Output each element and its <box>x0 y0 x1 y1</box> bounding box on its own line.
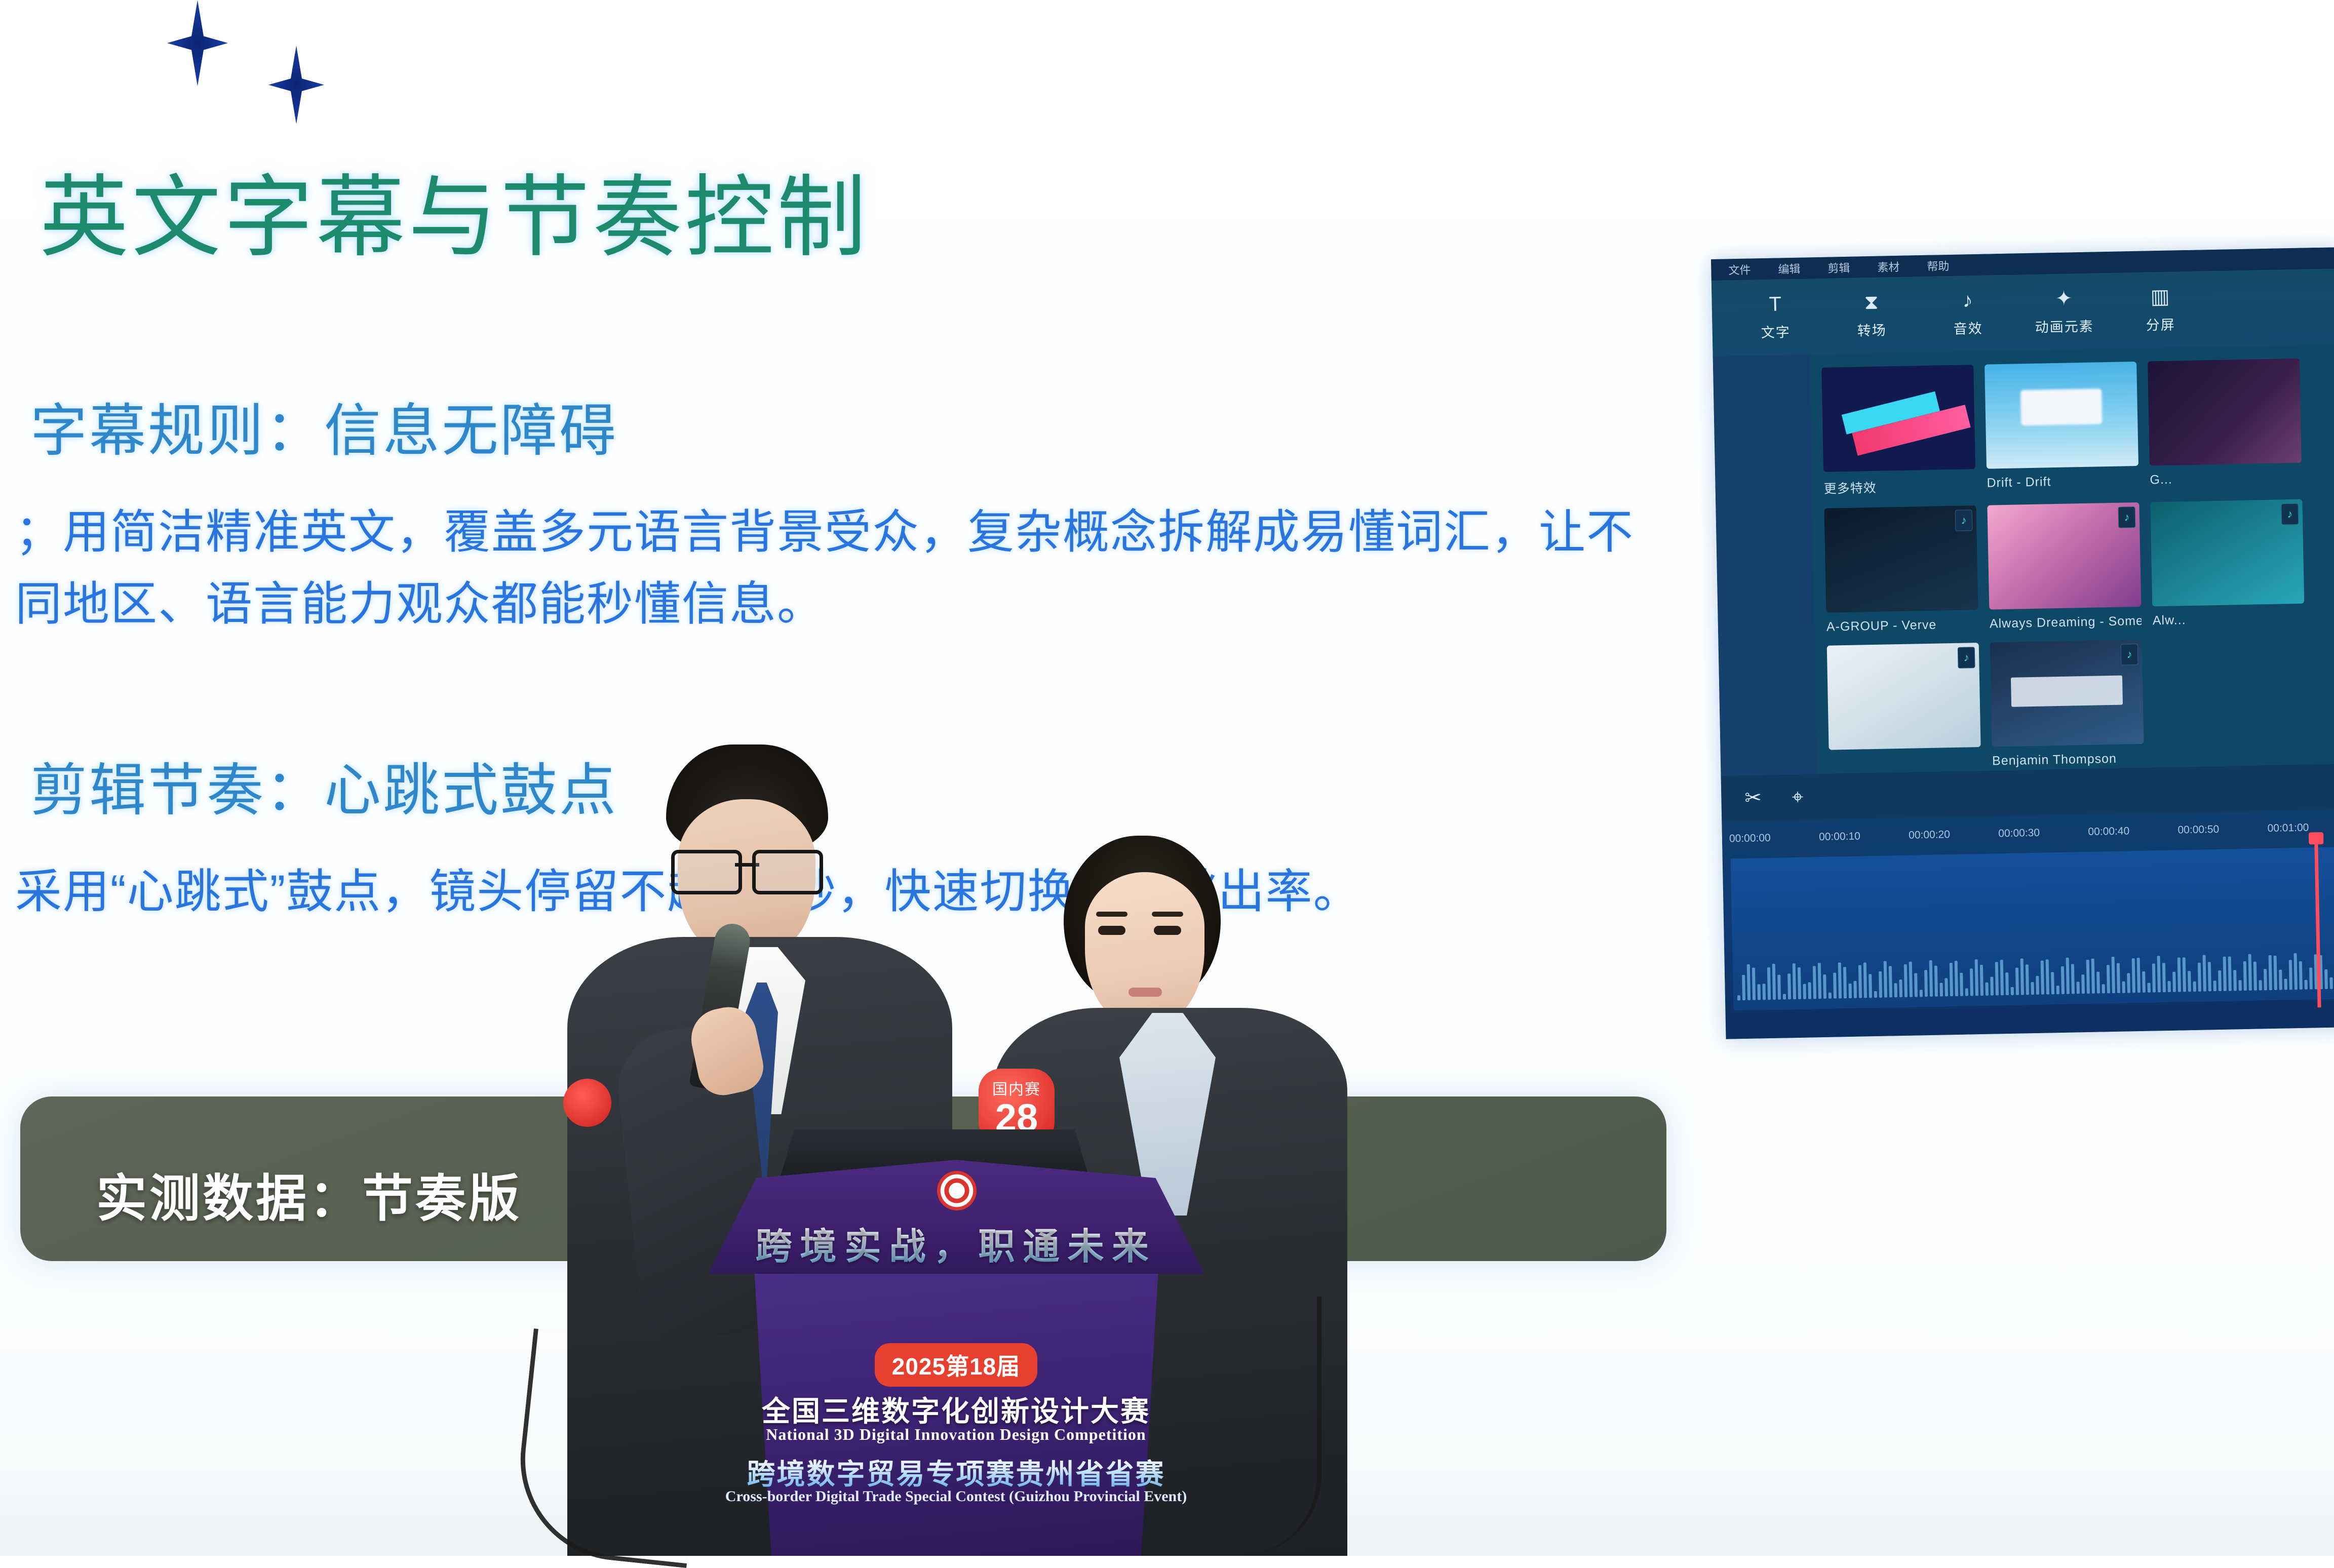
podium-edition-label: 2025第18届 <box>875 1343 1038 1387</box>
waveform-bar <box>1747 964 1750 1000</box>
waveform-bar <box>2269 955 2272 990</box>
podium-title-en: National 3D Digital Innovation Design Co… <box>686 1425 1226 1444</box>
waveform-bar <box>1798 967 1801 999</box>
waveform-bar <box>2000 960 2004 995</box>
waveform-bar <box>1904 964 1908 997</box>
waveform-bar <box>2218 970 2222 991</box>
waveform-bar <box>1838 962 1842 999</box>
waveform-bar <box>1777 975 1781 1000</box>
waveform-bar <box>2071 964 2075 994</box>
eyebrow <box>1152 912 1183 917</box>
waveform-bar <box>1899 979 1902 997</box>
timecode-label: 00:00:00 <box>1722 831 1812 845</box>
waveform-bar <box>1914 973 1918 997</box>
timecode-label: 00:00:40 <box>2081 825 2171 838</box>
page-title: 英文字幕与节奏控制 <box>40 171 869 265</box>
menu-item-media[interactable]: 素材 <box>1877 258 1900 275</box>
callout-text: 实测数据：节奏版 <box>96 1157 522 1231</box>
waveform-bar <box>1995 962 1999 995</box>
waveform-bar <box>2020 959 2024 995</box>
podium-edition-pill: 2025第18届 <box>686 1343 1226 1387</box>
editor-asset-grid: 更多特效 Drift - Drift G... ♪ A-GROUP - Verv… <box>1809 344 2334 774</box>
waveform-bar <box>2253 962 2257 991</box>
waveform-bar <box>2102 984 2105 993</box>
asset-label: Always Dreaming - Some <box>1990 614 2142 632</box>
waveform-bar <box>1884 961 1887 998</box>
tab-sound[interactable]: ♪ 音效 <box>1919 289 2016 338</box>
menu-item-file[interactable]: 文件 <box>1728 261 1751 278</box>
asset-label: G... <box>2150 470 2302 488</box>
waveform-bar <box>1934 965 1938 996</box>
waveform-bar <box>2193 982 2196 992</box>
sparkle-icon <box>167 0 228 86</box>
waveform-bar <box>2259 981 2262 991</box>
asset-card[interactable]: ♪ Always Dreaming - Some <box>1987 502 2142 632</box>
glasses-icon <box>671 850 823 887</box>
music-badge-icon: ♪ <box>2281 503 2299 525</box>
waveform-bar <box>2183 957 2186 992</box>
waveform-bar <box>2127 973 2130 993</box>
waveform-bar <box>2188 971 2191 992</box>
waveform-bar <box>2177 957 2181 992</box>
waveform-bar <box>1772 964 1776 1000</box>
waveform-bar <box>2086 960 2090 994</box>
waveform-bar <box>1767 967 1771 1000</box>
tab-split-label: 分屏 <box>2146 313 2175 334</box>
editor-timeline[interactable]: 00:00:00 00:00:10 00:00:20 00:00:30 00:0… <box>1722 809 2334 1039</box>
waveform-bar <box>2309 968 2313 990</box>
waveform-bar <box>1980 965 1983 996</box>
text-icon: T <box>1769 294 1781 314</box>
menu-item-edit[interactable]: 编辑 <box>1778 260 1801 277</box>
music-badge-icon: ♪ <box>1955 509 1973 531</box>
asset-label: A-GROUP - Verve <box>1826 617 1979 635</box>
tab-text[interactable]: T 文字 <box>1727 293 1824 342</box>
waveform-bar <box>1909 961 1913 997</box>
waveform-bar <box>1920 990 1923 997</box>
asset-label: 更多特效 <box>1823 476 1976 497</box>
waveform-bar <box>1924 970 1928 997</box>
waveform-bar <box>2284 978 2287 990</box>
cut-icon[interactable]: ✂ <box>1744 786 1762 810</box>
waveform-bar <box>2096 971 2100 993</box>
music-badge-icon: ♪ <box>2118 506 2136 528</box>
asset-card[interactable]: Drift - Drift <box>1985 362 2139 494</box>
asset-label: Drift - Drift <box>1987 473 2139 491</box>
waveform-bar <box>1869 974 1872 998</box>
waveform-bar <box>1793 963 1796 999</box>
asset-thumbnail[interactable] <box>1985 362 2138 469</box>
asset-card[interactable]: ♪ A-GROUP - Verve <box>1824 505 1978 635</box>
asset-label: Benjamin Thompson <box>1992 751 2145 769</box>
lips <box>1129 988 1162 997</box>
asset-thumbnail[interactable]: ♪ <box>1824 505 1978 613</box>
waveform-bar <box>2233 970 2237 991</box>
waveform-bar <box>1986 983 1989 996</box>
waveform-bar <box>2132 959 2135 993</box>
waveform-bar <box>2223 956 2227 991</box>
waveform-bar <box>2239 980 2242 991</box>
waveform-bar <box>2142 971 2146 992</box>
waveform-bar <box>1858 965 1862 998</box>
waveform-bar <box>1813 966 1816 999</box>
section-body-subtitle-rules: ；用简洁精准英文，覆盖多元语言背景受众，复杂概念拆解成易懂词汇，让不同地区、语言… <box>15 496 1636 640</box>
podium-subtitle-en: Cross-border Digital Trade Special Conte… <box>686 1488 1226 1505</box>
timecode-label: 00:00:20 <box>1901 828 1992 842</box>
waveform-bar <box>2289 960 2292 990</box>
waveform-bar <box>1833 972 1837 999</box>
waveform-bar <box>2107 965 2110 993</box>
badge-label: 国内赛 <box>992 1077 1041 1099</box>
timecode-label: 00:00:50 <box>2170 822 2261 836</box>
waveform-bar <box>1960 973 1963 996</box>
asset-card[interactable]: ♪ Alw... <box>2150 499 2305 629</box>
waveform-bar <box>2305 980 2308 990</box>
waveform-bar <box>1843 967 1847 999</box>
tab-sound-label: 音效 <box>1953 317 1983 337</box>
asset-thumbnail[interactable]: ♪ <box>1987 502 2141 610</box>
waveform-bar <box>2005 972 2009 995</box>
asset-card[interactable]: 更多特效 <box>1821 365 1976 497</box>
waveform-bar <box>1787 974 1791 1000</box>
editor-tab-bar: T 文字 ⧗ 转场 ♪ 音效 ✦ 动画元素 ▥ 分屏 <box>1711 268 2334 357</box>
waveform-bar <box>2117 963 2120 993</box>
editor-category-sidebar[interactable] <box>1713 355 1817 775</box>
waveform-bar <box>2243 961 2247 991</box>
waveform-bar <box>1783 994 1786 999</box>
waveform-bar <box>2056 986 2059 994</box>
waveform-bar <box>2061 966 2065 994</box>
menu-item-clip[interactable]: 剪辑 <box>1827 259 1850 276</box>
waveform-bar <box>1944 978 1948 997</box>
eye <box>1154 926 1181 935</box>
waveform-bar <box>2172 971 2176 992</box>
split-icon: ▥ <box>2150 286 2170 307</box>
waveform-bar <box>2168 981 2171 992</box>
menu-item-help[interactable]: 帮助 <box>1927 257 1950 274</box>
waveform-bar <box>2077 982 2080 994</box>
waveform-bar <box>2162 963 2166 992</box>
waveform-bar <box>2148 983 2151 992</box>
waveform-bar <box>2112 957 2115 993</box>
waveform-bar <box>2157 956 2161 992</box>
waveform-bar <box>2213 981 2216 991</box>
waveform-bar <box>2041 961 2044 995</box>
split-icon[interactable]: ⌖ <box>1792 786 1804 808</box>
contestant-badge <box>563 1079 611 1127</box>
waveform-bar <box>1803 984 1807 999</box>
waveform-bar <box>2081 974 2085 994</box>
waveform-bar <box>1849 984 1852 998</box>
asset-card[interactable]: ♪ Benjamin Thompson <box>1990 640 2145 769</box>
timecode-label: 00:00:30 <box>1991 826 2081 840</box>
waveform-bar <box>2051 972 2054 994</box>
waveform-bar <box>1889 966 1892 998</box>
waveform-bar <box>1818 963 1821 999</box>
waveform-bar <box>2228 956 2232 991</box>
waveform-bar <box>2264 969 2267 990</box>
waveform-bar <box>1975 959 1978 996</box>
waveform-bar <box>2279 970 2282 990</box>
asset-label: Alw... <box>2153 611 2305 629</box>
waveform-bar <box>2248 954 2252 991</box>
podium: 跨境实战，职通未来 2025第18届 全国三维数字化创新设计大赛 Nationa… <box>686 1160 1226 1556</box>
asset-card[interactable]: ♪ <box>1827 643 1981 772</box>
waveform-bar <box>2046 959 2049 995</box>
waveform-bar <box>1940 983 1943 997</box>
waveform-bar <box>1863 962 1867 998</box>
waveform-bar <box>2208 962 2211 992</box>
waveform-bar <box>1970 969 1973 996</box>
tab-split-screen[interactable]: ▥ 分屏 <box>2112 286 2209 335</box>
asset-thumbnail[interactable] <box>2148 359 2302 466</box>
waveform-bar <box>1752 968 1756 1000</box>
waveform-bar <box>1829 993 1832 999</box>
waveform-bar <box>1879 971 1882 998</box>
waveform-bar <box>2294 953 2298 990</box>
waveform-bar <box>1853 981 1857 998</box>
sticker-icon: ✦ <box>2055 288 2072 309</box>
competition-emblem-icon <box>937 1171 977 1210</box>
waveform-bar <box>2203 955 2206 992</box>
asset-thumbnail[interactable]: ♪ <box>2150 499 2304 607</box>
timecode-label: 00:00:10 <box>1812 830 1902 843</box>
waveform-bar <box>2011 987 2014 995</box>
waveform-bar <box>1990 977 1994 996</box>
waveform-bar <box>1742 975 1745 1000</box>
waveform-bar <box>1929 960 1933 997</box>
tab-text-label: 文字 <box>1761 321 1791 341</box>
waveform-bar <box>2137 958 2141 993</box>
waveform-bar <box>1965 988 1968 996</box>
asset-label <box>1829 754 1981 757</box>
waveform-bar <box>1808 983 1811 999</box>
eye <box>1098 926 1125 935</box>
waveform-bar <box>2324 969 2328 989</box>
tab-transition[interactable]: ⧗ 转场 <box>1823 291 1920 340</box>
face <box>1085 872 1204 1025</box>
tab-animation-element[interactable]: ✦ 动画元素 <box>2015 287 2113 336</box>
waveform-bar <box>2299 961 2303 990</box>
tab-animation-label: 动画元素 <box>2035 315 2094 336</box>
waveform-bar <box>2122 982 2125 993</box>
asset-thumbnail[interactable] <box>1821 365 1975 472</box>
video-editor-panel: 文件 编辑 剪辑 素材 帮助 T 文字 ⧗ 转场 ♪ 音效 ✦ 动画元素 <box>1711 247 2334 1039</box>
waveform-bar <box>2036 975 2039 995</box>
waveform-bar <box>2015 967 2019 995</box>
asset-card[interactable]: G... <box>2148 359 2302 491</box>
waveform-bar <box>1737 995 1740 1000</box>
section-heading-subtitle-rules: 字幕规则：信息无障碍 <box>30 385 618 467</box>
waveform-bar <box>2329 977 2332 989</box>
music-badge-icon: ♪ <box>2121 644 2138 665</box>
waveform-bar <box>2031 982 2034 995</box>
waveform-bar <box>2152 964 2156 993</box>
podium-subtitle-cn: 跨境数字贸易专项赛贵州省省赛 <box>686 1452 1226 1493</box>
sound-icon: ♪ <box>1962 290 1973 310</box>
podium-slogan: 跨境实战，职通未来 <box>686 1217 1226 1270</box>
waveform-bar <box>1762 984 1766 1000</box>
timeline-clip-track[interactable] <box>1731 847 2334 1010</box>
music-badge-icon: ♪ <box>1958 647 1975 669</box>
tab-transition-label: 转场 <box>1857 319 1887 339</box>
waveform-bar <box>2066 958 2070 994</box>
asset-thumbnail[interactable]: ♪ <box>1990 640 2144 747</box>
waveform-bar <box>1950 963 1953 996</box>
waveform-bar <box>2274 956 2277 990</box>
waveform-bar <box>2198 962 2201 991</box>
waveform-bar <box>2091 959 2095 994</box>
podium-title-cn: 全国三维数字化创新设计大赛 <box>686 1389 1226 1430</box>
waveform-bar <box>1758 985 1761 1000</box>
waveform-bar <box>1874 991 1877 998</box>
section-heading-edit-rhythm: 剪辑节奏：心跳式鼓点 <box>30 744 618 827</box>
cable <box>1231 1297 1321 1556</box>
eyebrow <box>1096 912 1127 917</box>
transition-icon: ⧗ <box>1864 292 1879 312</box>
waveform-bar <box>2026 964 2029 995</box>
waveform-bar <box>1955 961 1958 996</box>
asset-thumbnail[interactable]: ♪ <box>1827 643 1981 750</box>
sparkle-icon <box>268 46 324 124</box>
waveform-bar <box>1894 983 1898 997</box>
waveform-bar <box>1823 974 1826 999</box>
